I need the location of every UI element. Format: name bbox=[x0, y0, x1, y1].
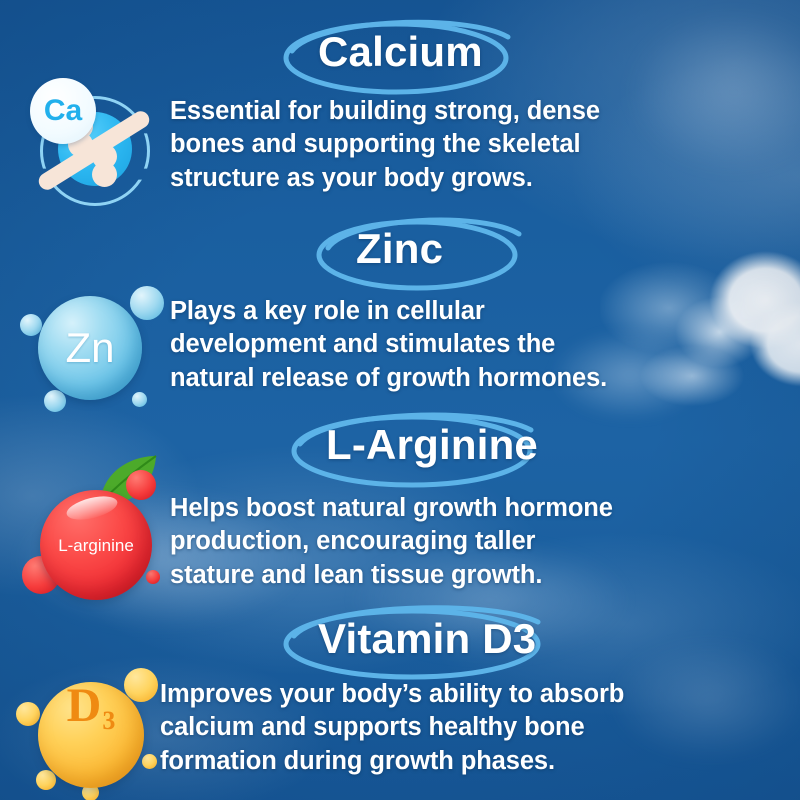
arginine-bubble-1 bbox=[126, 470, 156, 500]
d3-main-sphere: D 3 bbox=[38, 682, 144, 788]
d3-bubble-3 bbox=[36, 770, 56, 790]
calcium-symbol-text: Ca bbox=[44, 96, 82, 126]
calcium-symbol-bubble: Ca bbox=[30, 78, 96, 144]
body-zinc: Plays a key role in cellular development… bbox=[170, 295, 607, 395]
zinc-bubble-3 bbox=[44, 390, 66, 412]
body-calcium-line-2: bones and supporting the skeletal bbox=[170, 128, 600, 161]
body-zinc-line-3: natural release of growth hormones. bbox=[170, 362, 607, 395]
poster-content: Calcium Ca Essential for building strong… bbox=[0, 0, 800, 800]
body-l-arginine-line-1: Helps boost natural growth hormone bbox=[170, 492, 613, 525]
body-vitamin-d3-line-2: calcium and supports healthy bone bbox=[160, 711, 624, 744]
zinc-bubble-4 bbox=[132, 392, 147, 407]
arginine-bubble-3 bbox=[146, 570, 160, 584]
heading-zinc: Zinc bbox=[330, 222, 469, 278]
d3-symbol-text: D bbox=[67, 682, 102, 730]
d3-bubble-5 bbox=[142, 754, 157, 769]
nutrient-benefits-poster: Calcium Ca Essential for building strong… bbox=[0, 0, 800, 800]
body-calcium-line-1: Essential for building strong, dense bbox=[170, 95, 600, 128]
heading-vitamin-d3-wrap: Vitamin D3 bbox=[292, 612, 562, 668]
body-calcium-line-3: structure as your body grows. bbox=[170, 162, 600, 195]
bone-knob-d bbox=[92, 162, 117, 187]
heading-zinc-wrap: Zinc bbox=[330, 222, 469, 278]
zinc-symbol-text: Zn bbox=[65, 327, 114, 369]
arginine-label-text: L-arginine bbox=[58, 537, 134, 554]
vitamin-d3-molecule-icon: D 3 bbox=[8, 650, 173, 800]
body-zinc-line-2: development and stimulates the bbox=[170, 328, 607, 361]
heading-l-arginine-wrap: L-Arginine bbox=[300, 418, 564, 474]
zinc-bubble-2 bbox=[20, 314, 42, 336]
calcium-bone-icon: Ca bbox=[18, 72, 178, 222]
d3-bubble-2 bbox=[16, 702, 40, 726]
body-l-arginine: Helps boost natural growth hormone produ… bbox=[170, 492, 613, 592]
body-vitamin-d3-line-1: Improves your body’s ability to absorb bbox=[160, 678, 624, 711]
body-calcium: Essential for building strong, dense bon… bbox=[170, 95, 600, 195]
l-arginine-molecule-icon: L-arginine bbox=[14, 452, 179, 607]
zinc-main-sphere: Zn bbox=[38, 296, 142, 400]
d3-bubble-1 bbox=[124, 668, 158, 702]
body-vitamin-d3-line-3: formation during growth phases. bbox=[160, 745, 624, 778]
heading-l-arginine: L-Arginine bbox=[300, 418, 564, 474]
d3-symbol-subscript: 3 bbox=[102, 708, 115, 734]
heading-calcium: Calcium bbox=[292, 25, 509, 81]
zinc-molecule-icon: Zn bbox=[12, 272, 172, 422]
body-l-arginine-line-2: production, encouraging taller bbox=[170, 525, 613, 558]
body-l-arginine-line-3: stature and lean tissue growth. bbox=[170, 559, 613, 592]
body-zinc-line-1: Plays a key role in cellular bbox=[170, 295, 607, 328]
heading-vitamin-d3: Vitamin D3 bbox=[292, 612, 562, 668]
zinc-bubble-1 bbox=[130, 286, 164, 320]
heading-calcium-wrap: Calcium bbox=[292, 25, 509, 81]
body-vitamin-d3: Improves your body’s ability to absorb c… bbox=[160, 678, 624, 778]
